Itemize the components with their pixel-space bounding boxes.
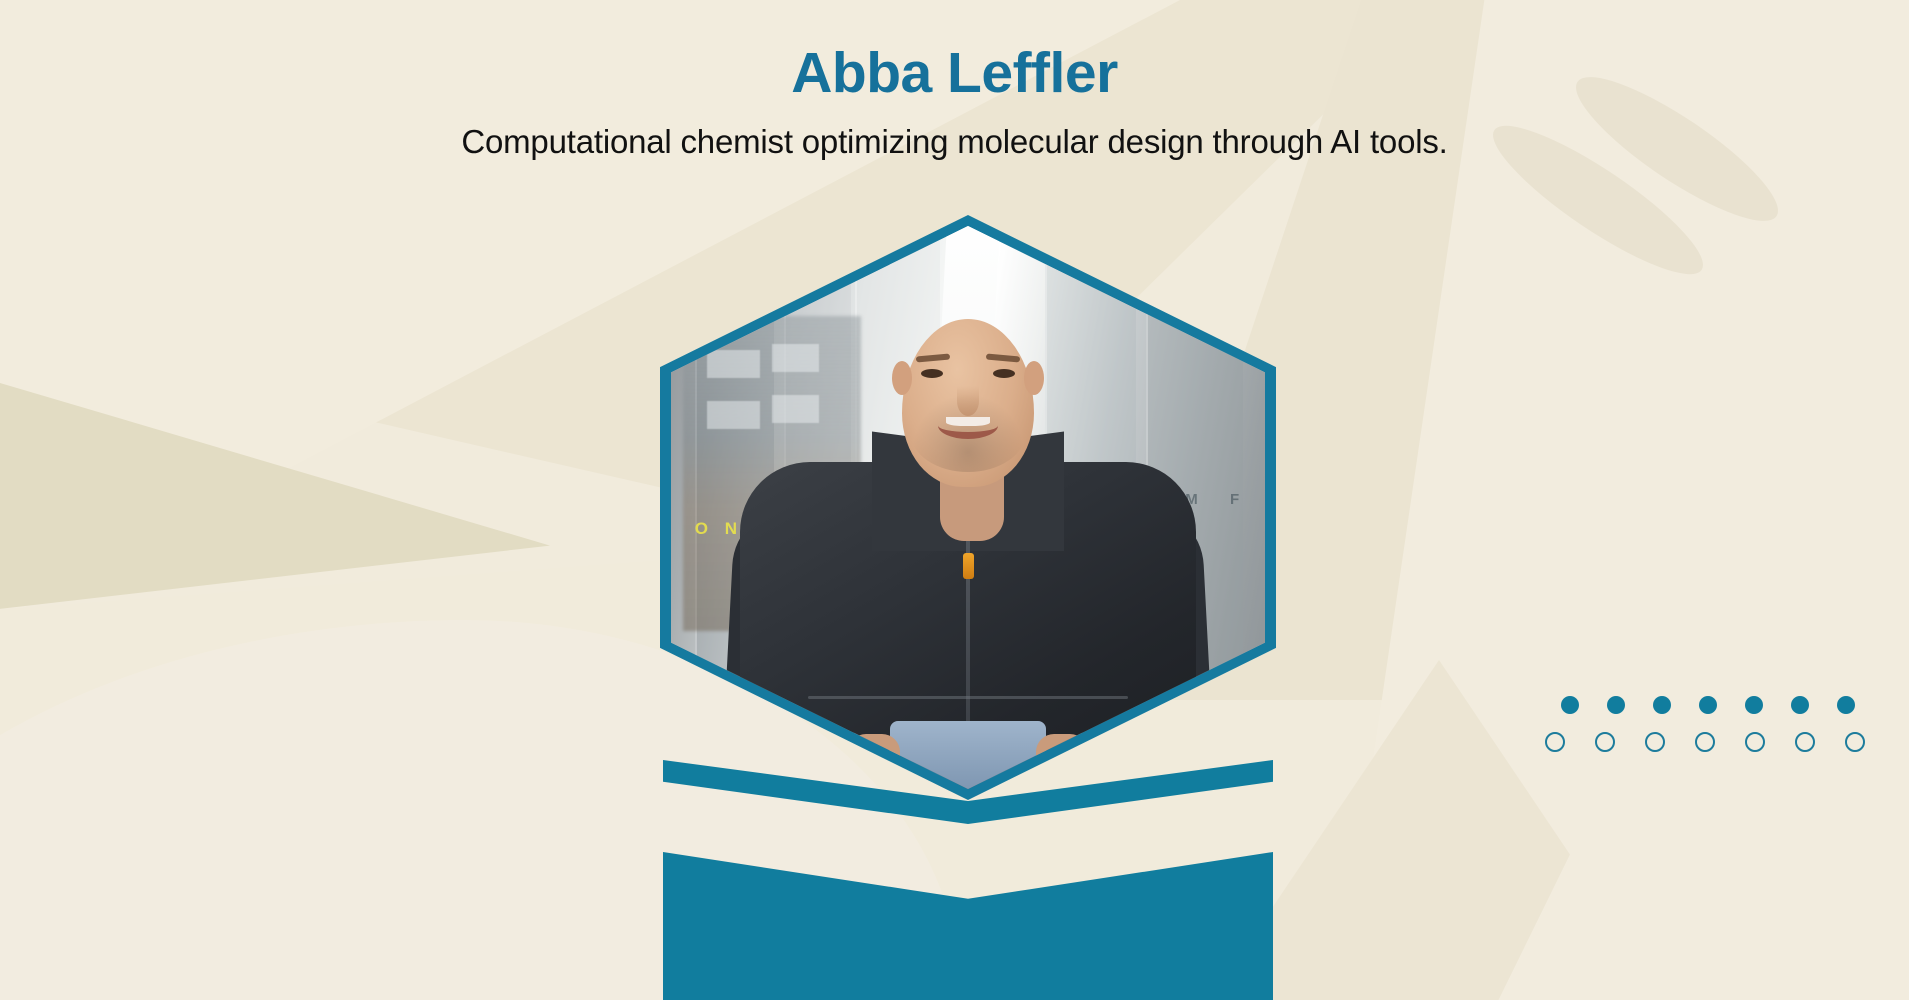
dot-filled: [1745, 696, 1763, 714]
dot-hollow: [1545, 732, 1565, 752]
dot-filled: [1791, 696, 1809, 714]
dot-row-filled: [1545, 696, 1865, 714]
profile-banner: Abba Leffler Computational chemist optim…: [0, 0, 1909, 1000]
dot-hollow: [1695, 732, 1715, 752]
photo-scene: O N E B R Y M F: [671, 226, 1265, 789]
dot-filled: [1561, 696, 1579, 714]
dot-filled: [1607, 696, 1625, 714]
dot-hollow: [1795, 732, 1815, 752]
dot-filled: [1837, 696, 1855, 714]
dot-hollow: [1595, 732, 1615, 752]
page-title: Abba Leffler: [0, 44, 1909, 104]
zipper-line: [966, 508, 970, 756]
dot-row-hollow: [1545, 732, 1865, 752]
dot-hollow: [1645, 732, 1665, 752]
chevron-thick: [663, 852, 1273, 1000]
eye-right: [993, 369, 1015, 378]
portrait-photo: O N E B R Y M F: [671, 226, 1265, 789]
background-wedge-left-mid: [0, 380, 550, 610]
page-subtitle: Computational chemist optimizing molecul…: [0, 122, 1909, 162]
jacket-hem-seam: [808, 696, 1128, 699]
dot-filled: [1699, 696, 1717, 714]
zipper-pull-icon: [963, 553, 974, 579]
dot-hollow: [1745, 732, 1765, 752]
ear-left: [892, 361, 912, 395]
dot-filled: [1653, 696, 1671, 714]
dot-hollow: [1845, 732, 1865, 752]
person-figure: [671, 226, 1265, 789]
header: Abba Leffler Computational chemist optim…: [0, 44, 1909, 161]
portrait-hexagon: O N E B R Y M F: [660, 215, 1276, 800]
ear-right: [1024, 361, 1044, 395]
dot-grid-decoration: [1545, 696, 1865, 752]
eye-left: [921, 369, 943, 378]
mouth-smile: [938, 412, 998, 439]
jeans: [890, 721, 1046, 789]
